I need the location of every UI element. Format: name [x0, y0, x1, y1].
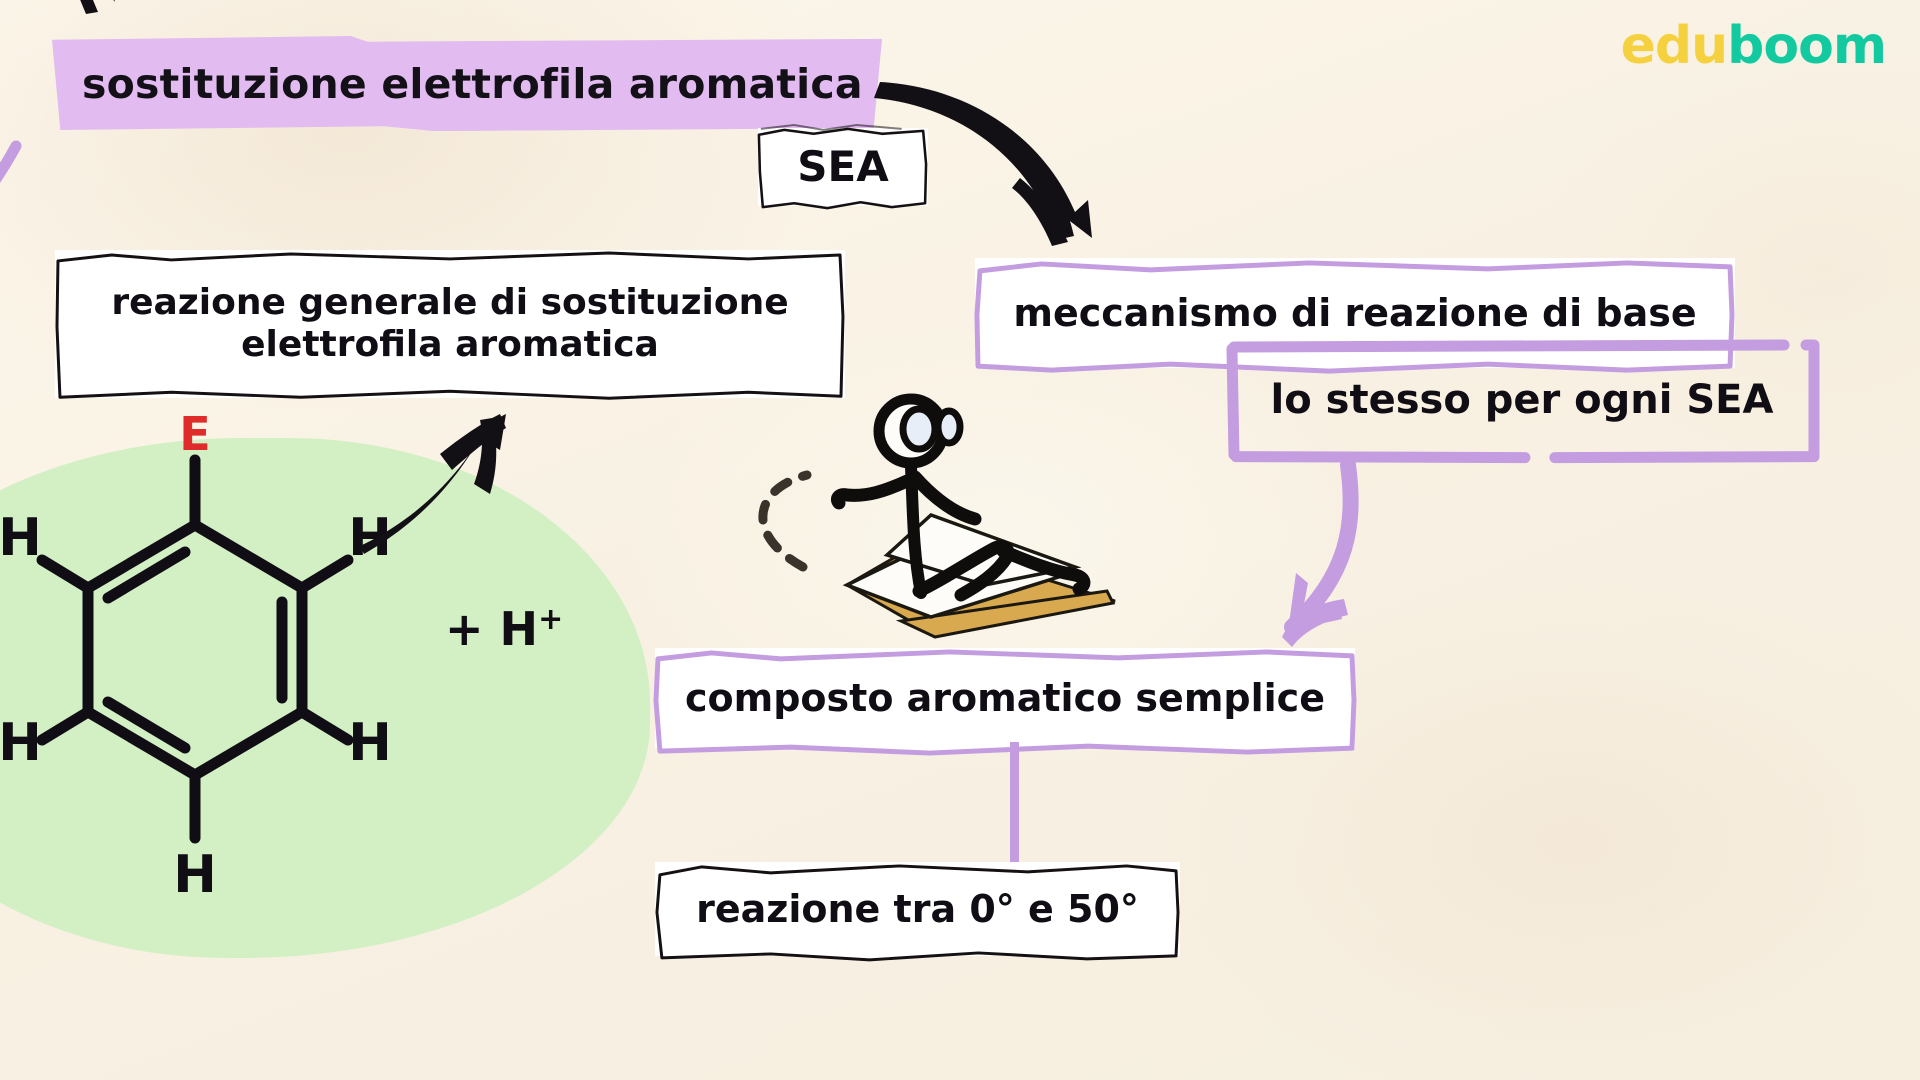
node-temperature-label: reazione tra 0° e 50° [696, 887, 1139, 932]
node-acronym-label: SEA [797, 142, 888, 192]
node-same-for-every-sea-label: lo stesso per ogni SEA [1271, 377, 1774, 423]
logo-text-boom: boom [1727, 16, 1886, 76]
node-temperature[interactable]: reazione tra 0° e 50° [655, 862, 1180, 956]
node-mechanism-label: meccanismo di reazione di base [1013, 291, 1696, 336]
node-same-for-every-sea[interactable]: lo stesso per ogni SEA [1232, 345, 1812, 455]
node-title-banner[interactable]: sostituzione elettrofila aromatica [52, 36, 882, 131]
logo-text-edu: edu [1621, 16, 1728, 76]
molecule-hydrogen-label: H [173, 845, 217, 905]
node-general-reaction[interactable]: reazione generale di sostituzione elettr… [55, 250, 845, 398]
molecule-byproduct-label: + H+ [445, 602, 563, 656]
stick-figure-on-paper-plane-illustration [735, 385, 1155, 665]
node-simple-compound-label: composto aromatico semplice [685, 676, 1325, 721]
motion-trail-dashes [763, 475, 807, 567]
connector-compound-to-temperature [1010, 742, 1019, 870]
node-general-reaction-line2: elettrofila aromatica [241, 324, 659, 366]
molecule-hydrogen-label: H [0, 713, 42, 773]
arrow-title-to-mechanism-icon [870, 60, 1170, 260]
molecule-substituent-label-E: E [179, 407, 210, 461]
node-general-reaction-line1: reazione generale di sostituzione [111, 282, 788, 324]
arrow-molecule-to-general-reaction-icon [340, 398, 540, 578]
arrow-same-to-compound-icon [1230, 455, 1460, 665]
slide-canvas: eduboom sostituzione elettrofila aromati… [0, 0, 1920, 1080]
molecule-hydrogen-label: H [348, 713, 392, 773]
eduboom-logo: eduboom [1621, 16, 1886, 76]
arrow-fragment-purple-left-icon [0, 120, 90, 260]
molecule-hydrogen-label: H [0, 508, 42, 568]
node-title-label: sostituzione elettrofila aromatica [82, 60, 863, 108]
